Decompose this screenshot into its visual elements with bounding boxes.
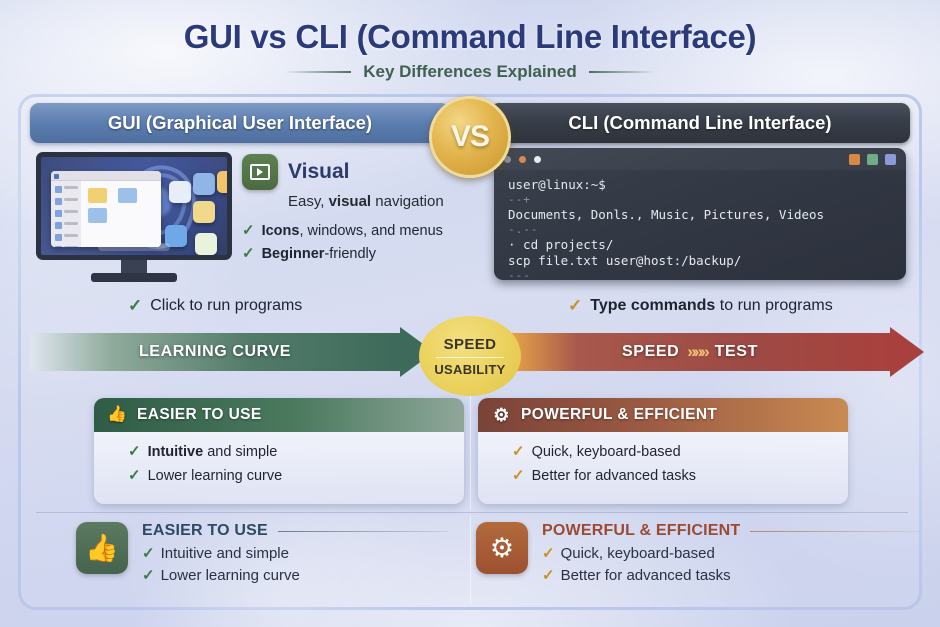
- visual-feature-row: Visual: [242, 154, 450, 190]
- easier-to-use-card: EASIER TO USE ✓ Intuitive and simple ✓ L…: [94, 398, 464, 504]
- folder-icon: [88, 208, 107, 223]
- list-item: ✓ Quick, keyboard-based: [542, 544, 920, 562]
- badge-divider: [436, 357, 504, 358]
- visual-sub-lead: Easy,: [288, 193, 329, 210]
- bottom-title: POWERFUL & EFFICIENT: [542, 522, 740, 540]
- vs-badge-label: VS: [451, 120, 489, 154]
- title-rule: [750, 531, 920, 532]
- list-item-text: Icons, windows, and menus: [262, 223, 443, 239]
- page-subtitle: Key Differences Explained: [363, 62, 577, 82]
- bottom-title-row: POWERFUL & EFFICIENT: [542, 522, 920, 540]
- list-item: ✓ Intuitive and simple: [128, 442, 464, 460]
- bottom-easier-to-use: 👍 EASIER TO USE ✓ Intuitive and simple ✓…: [76, 522, 448, 584]
- desktop-app-icon: [193, 201, 215, 223]
- desktop-app-icon: [195, 233, 217, 255]
- check-icon: ✓: [142, 544, 155, 562]
- list-item: ✓ Icons, windows, and menus: [242, 221, 450, 239]
- speed-test-arrow: SPEED »»» TEST: [460, 333, 924, 371]
- subtitle-rule-left: [285, 71, 351, 73]
- visual-sub-bold: visual: [329, 193, 372, 210]
- terminal-window: user@linux:~$ --+ Documents, Donls., Mus…: [494, 148, 906, 280]
- check-icon: ✓: [242, 221, 255, 239]
- check-icon: ✓: [512, 466, 525, 484]
- folder-icon: [88, 188, 107, 203]
- list-item: ✓ Lower learning curve: [142, 566, 448, 584]
- bottom-text-block: EASIER TO USE ✓ Intuitive and simple ✓ L…: [142, 522, 448, 584]
- list-item-text: Lower learning curve: [161, 567, 300, 584]
- visual-sub-tail: navigation: [371, 193, 444, 210]
- gui-run-line: ✓ Click to run programs: [128, 296, 302, 316]
- page-title: GUI vs CLI (Command Line Interface): [0, 18, 940, 56]
- file-explorer-content: [81, 181, 161, 247]
- list-item: ✓ Lower learning curve: [128, 466, 464, 484]
- desktop-app-icon: [217, 171, 232, 193]
- check-icon: ✓: [128, 442, 141, 460]
- speed-usability-badge: SPEED USABILITY: [419, 316, 521, 396]
- terminal-square-icon: [885, 154, 896, 165]
- check-icon: ✓: [128, 296, 142, 316]
- monitor-screen: [36, 152, 232, 260]
- terminal-titlebar: [494, 148, 906, 170]
- check-icon: ✓: [142, 566, 155, 584]
- list-item: ✓ Better for advanced tasks: [542, 566, 920, 584]
- learning-curve-label: LEARNING CURVE: [139, 343, 291, 361]
- terminal-dot-icon: [534, 156, 541, 163]
- list-item-text: Intuitive and simple: [161, 545, 289, 562]
- terminal-dot-icon: [519, 156, 526, 163]
- terminal-square-icon: [849, 154, 860, 165]
- card-title: EASIER TO USE: [137, 406, 262, 424]
- file-explorer-titlebar: [51, 171, 161, 181]
- card-body: ✓ Intuitive and simple ✓ Lower learning …: [94, 432, 464, 504]
- gui-feature-block: Visual Easy, visual navigation ✓ Icons, …: [242, 154, 450, 267]
- file-explorer-sidebar: [51, 181, 81, 247]
- bottom-text-block: POWERFUL & EFFICIENT ✓ Quick, keyboard-b…: [542, 522, 920, 584]
- card-body: ✓ Quick, keyboard-based ✓ Better for adv…: [478, 432, 848, 504]
- subtitle-rule-right: [589, 71, 655, 73]
- terminal-line: -.--: [508, 223, 892, 237]
- infographic-canvas: GUI vs CLI (Command Line Interface) Key …: [0, 0, 940, 627]
- vs-badge: VS: [429, 96, 511, 178]
- card-header: ⚙ POWERFUL & EFFICIENT: [478, 398, 848, 432]
- gear-icon: ⚙: [492, 406, 511, 425]
- title-block: GUI vs CLI (Command Line Interface) Key …: [0, 18, 940, 82]
- list-item: ✓ Better for advanced tasks: [512, 466, 848, 484]
- vertical-divider: [470, 388, 471, 510]
- gear-glyph: ⚙: [490, 535, 514, 562]
- terminal-line: Documents, Donls., Music, Pictures, Vide…: [508, 207, 892, 223]
- cli-run-line: ✓ Type commands to run programs: [568, 296, 833, 316]
- list-item-text: Beginner-friendly: [262, 246, 376, 262]
- check-icon: ✓: [568, 296, 582, 316]
- list-item: ✓ Intuitive and simple: [142, 544, 448, 562]
- check-icon: ✓: [542, 566, 555, 584]
- list-item-text: Better for advanced tasks: [561, 567, 731, 584]
- cli-run-text: Type commands to run programs: [590, 297, 832, 315]
- check-icon: ✓: [542, 544, 555, 562]
- monitor-stand-base: [91, 273, 177, 282]
- list-item-text: Lower learning curve: [148, 468, 283, 484]
- visual-feature-title: Visual: [288, 160, 349, 184]
- terminal-line: scp file.txt user@host:/backup/: [508, 253, 892, 269]
- list-item-text: Intuitive and simple: [148, 444, 278, 460]
- list-item-text: Quick, keyboard-based: [561, 545, 715, 562]
- list-item-text: Better for advanced tasks: [532, 468, 696, 484]
- gui-run-text: Click to run programs: [150, 297, 302, 315]
- monitor-play-icon: [242, 154, 278, 190]
- check-icon: ✓: [512, 442, 525, 460]
- gui-column-header: GUI (Graphical User Interface): [30, 103, 450, 143]
- bottom-title-row: EASIER TO USE: [142, 522, 448, 540]
- check-icon: ✓: [242, 244, 255, 262]
- gui-bullet-list: ✓ Icons, windows, and menus ✓ Beginner-f…: [242, 221, 450, 262]
- visual-feature-subtitle: Easy, visual navigation: [288, 193, 450, 210]
- speed-label-top: SPEED: [444, 336, 497, 353]
- monitor-stand-neck: [121, 260, 147, 274]
- terminal-line: · cd projects/: [508, 237, 892, 253]
- card-title: POWERFUL & EFFICIENT: [521, 406, 717, 424]
- thumbs-up-icon: 👍: [76, 522, 128, 574]
- test-label: TEST: [715, 343, 758, 361]
- horizontal-divider: [36, 512, 908, 513]
- subtitle-row: Key Differences Explained: [0, 62, 940, 82]
- file-explorer-window: [51, 171, 161, 247]
- cli-column-header: CLI (Command Line Interface): [490, 103, 910, 143]
- arrow-head-icon: [890, 327, 924, 377]
- terminal-line: ---: [508, 269, 892, 280]
- title-rule: [278, 531, 448, 532]
- terminal-line: --+: [508, 193, 892, 207]
- thumbs-up-glyph: 👍: [85, 535, 119, 562]
- list-item: ✓ Beginner-friendly: [242, 244, 450, 262]
- learning-curve-arrow: LEARNING CURVE: [30, 333, 434, 371]
- speed-label: SPEED: [622, 343, 679, 361]
- bottom-powerful-efficient: ⚙ POWERFUL & EFFICIENT ✓ Quick, keyboard…: [476, 522, 920, 584]
- usability-label: USABILITY: [434, 362, 505, 377]
- folder-icon: [118, 188, 137, 203]
- card-header: EASIER TO USE: [94, 398, 464, 432]
- gear-icon: ⚙: [476, 522, 528, 574]
- desktop-taskbar: [98, 243, 170, 251]
- powerful-efficient-card: ⚙ POWERFUL & EFFICIENT ✓ Quick, keyboard…: [478, 398, 848, 504]
- list-item-text: Quick, keyboard-based: [532, 444, 681, 460]
- desktop-app-icon: [193, 173, 215, 195]
- chevron-right-icon: »»»: [687, 342, 706, 362]
- bottom-title: EASIER TO USE: [142, 522, 268, 540]
- terminal-square-icon: [867, 154, 878, 165]
- list-item: ✓ Quick, keyboard-based: [512, 442, 848, 460]
- terminal-line: user@linux:~$: [508, 177, 892, 193]
- desktop-app-icon: [169, 181, 191, 203]
- check-icon: ✓: [128, 466, 141, 484]
- thumbs-up-icon: [108, 406, 127, 425]
- vertical-divider-bottom: [470, 516, 471, 604]
- terminal-output: user@linux:~$ --+ Documents, Donls., Mus…: [494, 170, 906, 280]
- monitor-illustration: [36, 152, 232, 282]
